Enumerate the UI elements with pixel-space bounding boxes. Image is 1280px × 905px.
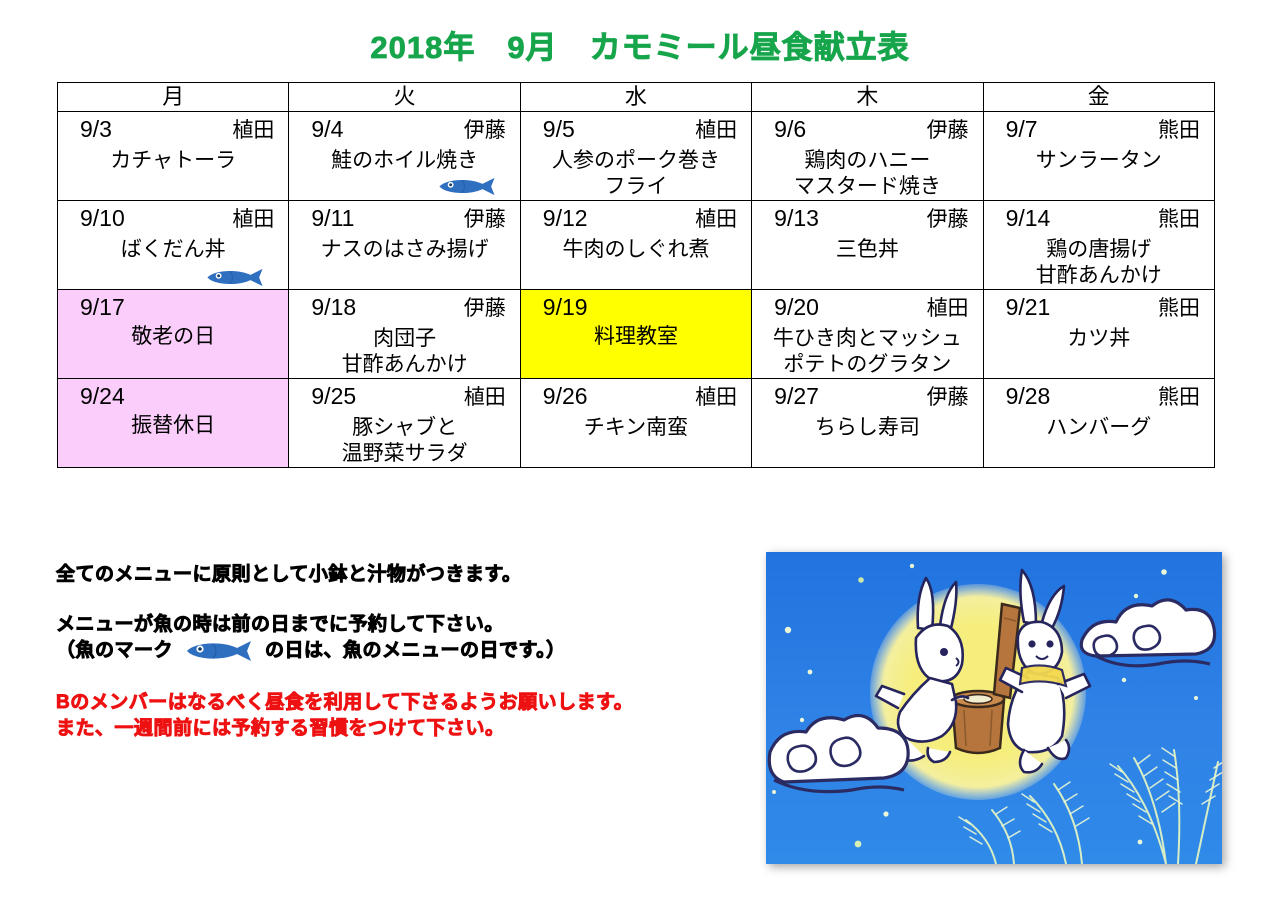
day-cell-header: 9/7熊田 bbox=[984, 112, 1214, 146]
weekday-header-wed: 水 bbox=[520, 83, 751, 112]
day-menu: 鮭のホイル焼き bbox=[289, 146, 519, 174]
day-menu: 牛肉のしぐれ煮 bbox=[521, 235, 751, 263]
calendar-day-cell: 9/3植田カチャトーラ bbox=[58, 112, 289, 201]
day-date: 9/7 bbox=[1006, 114, 1038, 144]
notes-section: 全てのメニューに原則として小鉢と汁物がつきます。 メニューが魚の時は前の日までに… bbox=[56, 562, 756, 742]
day-cell-header: 9/11伊藤 bbox=[289, 201, 519, 235]
day-menu: 人参のポーク巻き フライ bbox=[521, 146, 751, 200]
tsukimi-illustration bbox=[766, 552, 1222, 864]
fish-icon bbox=[183, 640, 255, 662]
day-date: 9/11 bbox=[311, 203, 354, 233]
calendar-week-row: 9/17敬老の日9/18伊藤肉団子 甘酢あんかけ9/19料理教室9/20植田牛ひ… bbox=[58, 290, 1215, 379]
calendar-day-cell: 9/27伊藤ちらし寿司 bbox=[752, 379, 983, 468]
day-menu: 肉団子 甘酢あんかけ bbox=[289, 324, 519, 378]
day-cell-header: 9/26植田 bbox=[521, 379, 751, 413]
day-cell-header: 9/17 bbox=[58, 290, 288, 322]
day-cell-header: 9/21熊田 bbox=[984, 290, 1214, 324]
calendar-day-cell: 9/24振替休日 bbox=[58, 379, 289, 468]
day-date: 9/25 bbox=[311, 381, 356, 411]
day-menu: カツ丼 bbox=[984, 324, 1214, 352]
day-date: 9/6 bbox=[774, 114, 806, 144]
day-cell-header: 9/12植田 bbox=[521, 201, 751, 235]
day-menu: ナスのはさみ揚げ bbox=[289, 235, 519, 263]
day-date: 9/27 bbox=[774, 381, 819, 411]
day-menu: 敬老の日 bbox=[58, 322, 288, 350]
calendar-day-cell: 9/10植田ばくだん丼 bbox=[58, 201, 289, 290]
day-date: 9/24 bbox=[80, 381, 125, 411]
calendar-body: 9/3植田カチャトーラ9/4伊藤鮭のホイル焼き9/5植田人参のポーク巻き フライ… bbox=[58, 112, 1215, 468]
fish-icon bbox=[204, 268, 266, 287]
day-menu: ちらし寿司 bbox=[752, 413, 982, 441]
calendar-day-cell: 9/4伊藤鮭のホイル焼き bbox=[289, 112, 520, 201]
calendar-day-cell: 9/6伊藤鶏肉のハニー マスタード焼き bbox=[752, 112, 983, 201]
day-menu: 振替休日 bbox=[58, 411, 288, 439]
day-cell-header: 9/25植田 bbox=[289, 379, 519, 413]
day-date: 9/3 bbox=[80, 114, 112, 144]
day-date: 9/21 bbox=[1006, 292, 1051, 322]
weekday-header-tue: 火 bbox=[289, 83, 520, 112]
calendar-day-cell: 9/25植田豚シャブと 温野菜サラダ bbox=[289, 379, 520, 468]
calendar-day-cell: 9/19料理教室 bbox=[520, 290, 751, 379]
day-date: 9/17 bbox=[80, 292, 125, 322]
day-staff: 伊藤 bbox=[464, 116, 506, 146]
day-menu: チキン南蛮 bbox=[521, 413, 751, 441]
day-menu: ハンバーグ bbox=[984, 413, 1214, 441]
day-date: 9/18 bbox=[311, 292, 356, 322]
day-menu: 三色丼 bbox=[752, 235, 982, 263]
note-line-side-dishes: 全てのメニューに原則として小鉢と汁物がつきます。 bbox=[56, 562, 756, 588]
day-menu: ばくだん丼 bbox=[58, 235, 288, 263]
day-menu: カチャトーラ bbox=[58, 146, 288, 174]
day-date: 9/10 bbox=[80, 203, 125, 233]
day-staff: 熊田 bbox=[1158, 116, 1200, 146]
day-cell-header: 9/18伊藤 bbox=[289, 290, 519, 324]
day-cell-header: 9/4伊藤 bbox=[289, 112, 519, 146]
calendar-day-cell: 9/20植田牛ひき肉とマッシュ ポテトのグラタン bbox=[752, 290, 983, 379]
day-staff: 伊藤 bbox=[927, 383, 969, 413]
day-menu: 鶏の唐揚げ 甘酢あんかけ bbox=[984, 235, 1214, 289]
weekday-header-thu: 木 bbox=[752, 83, 983, 112]
day-staff: 熊田 bbox=[1158, 205, 1200, 235]
day-menu: サンラータン bbox=[984, 146, 1214, 174]
day-staff: 植田 bbox=[695, 205, 737, 235]
calendar-day-cell: 9/28熊田ハンバーグ bbox=[983, 379, 1214, 468]
day-staff: 植田 bbox=[232, 116, 274, 146]
day-menu: 豚シャブと 温野菜サラダ bbox=[289, 413, 519, 467]
day-cell-header: 9/10植田 bbox=[58, 201, 288, 235]
day-staff: 伊藤 bbox=[927, 116, 969, 146]
calendar-week-row: 9/10植田ばくだん丼9/11伊藤ナスのはさみ揚げ9/12植田牛肉のしぐれ煮9/… bbox=[58, 201, 1215, 290]
day-date: 9/5 bbox=[543, 114, 575, 144]
day-cell-header: 9/13伊藤 bbox=[752, 201, 982, 235]
calendar-week-row: 9/3植田カチャトーラ9/4伊藤鮭のホイル焼き9/5植田人参のポーク巻き フライ… bbox=[58, 112, 1215, 201]
calendar-day-cell: 9/17敬老の日 bbox=[58, 290, 289, 379]
calendar-day-cell: 9/12植田牛肉のしぐれ煮 bbox=[520, 201, 751, 290]
note-line-fish-reservation: メニューが魚の時は前の日までに予約して下さい。 bbox=[56, 612, 756, 638]
day-staff: 伊藤 bbox=[464, 294, 506, 324]
day-date: 9/26 bbox=[543, 381, 588, 411]
note-fish-legend-prefix: （魚のマーク bbox=[56, 638, 173, 664]
note-line-b-member-request: Bのメンバーはなるべく昼食を利用して下さるようお願いします。 bbox=[56, 690, 756, 716]
note-line-fish-mark-legend: （魚のマーク の日は、魚のメニューの日です。） bbox=[56, 638, 756, 664]
calendar-week-row: 9/24振替休日9/25植田豚シャブと 温野菜サラダ9/26植田チキン南蛮9/2… bbox=[58, 379, 1215, 468]
day-staff: 植田 bbox=[464, 383, 506, 413]
day-cell-header: 9/20植田 bbox=[752, 290, 982, 324]
weekday-header-mon: 月 bbox=[58, 83, 289, 112]
day-cell-header: 9/27伊藤 bbox=[752, 379, 982, 413]
day-menu: 料理教室 bbox=[521, 322, 751, 350]
calendar-day-cell: 9/11伊藤ナスのはさみ揚げ bbox=[289, 201, 520, 290]
day-cell-header: 9/5植田 bbox=[521, 112, 751, 146]
day-cell-header: 9/3植田 bbox=[58, 112, 288, 146]
day-date: 9/14 bbox=[1006, 203, 1051, 233]
day-cell-header: 9/14熊田 bbox=[984, 201, 1214, 235]
calendar-day-cell: 9/26植田チキン南蛮 bbox=[520, 379, 751, 468]
menu-calendar-table: 月 火 水 木 金 9/3植田カチャトーラ9/4伊藤鮭のホイル焼き9/5植田人参… bbox=[57, 82, 1215, 468]
day-date: 9/19 bbox=[543, 292, 588, 322]
day-date: 9/13 bbox=[774, 203, 819, 233]
day-date: 9/20 bbox=[774, 292, 819, 322]
day-date: 9/12 bbox=[543, 203, 588, 233]
note-line-week-advance-reservation: また、一週間前には予約する習慣をつけて下さい。 bbox=[56, 716, 756, 742]
day-cell-header: 9/6伊藤 bbox=[752, 112, 982, 146]
day-staff: 伊藤 bbox=[464, 205, 506, 235]
calendar-day-cell: 9/7熊田サンラータン bbox=[983, 112, 1214, 201]
calendar-day-cell: 9/13伊藤三色丼 bbox=[752, 201, 983, 290]
day-date: 9/28 bbox=[1006, 381, 1051, 411]
day-staff: 植田 bbox=[695, 116, 737, 146]
page-title: 2018年 9月 カモミール昼食献立表 bbox=[0, 22, 1280, 67]
day-cell-header: 9/24 bbox=[58, 379, 288, 411]
note-fish-legend-suffix: の日は、魚のメニューの日です。） bbox=[265, 638, 566, 664]
notes-red-block: Bのメンバーはなるべく昼食を利用して下さるようお願いします。 また、一週間前には… bbox=[56, 690, 756, 742]
day-menu: 鶏肉のハニー マスタード焼き bbox=[752, 146, 982, 200]
day-staff: 植田 bbox=[695, 383, 737, 413]
day-date: 9/4 bbox=[311, 114, 343, 144]
calendar-day-cell: 9/14熊田鶏の唐揚げ 甘酢あんかけ bbox=[983, 201, 1214, 290]
calendar-day-cell: 9/18伊藤肉団子 甘酢あんかけ bbox=[289, 290, 520, 379]
day-staff: 植田 bbox=[232, 205, 274, 235]
day-staff: 植田 bbox=[927, 294, 969, 324]
day-staff: 伊藤 bbox=[927, 205, 969, 235]
day-staff: 熊田 bbox=[1158, 294, 1200, 324]
calendar-day-cell: 9/21熊田カツ丼 bbox=[983, 290, 1214, 379]
day-cell-header: 9/28熊田 bbox=[984, 379, 1214, 413]
day-staff: 熊田 bbox=[1158, 383, 1200, 413]
weekday-header-row: 月 火 水 木 金 bbox=[58, 83, 1215, 112]
calendar-day-cell: 9/5植田人参のポーク巻き フライ bbox=[520, 112, 751, 201]
day-cell-header: 9/19 bbox=[521, 290, 751, 322]
fish-icon bbox=[436, 177, 498, 196]
weekday-header-fri: 金 bbox=[983, 83, 1214, 112]
day-menu: 牛ひき肉とマッシュ ポテトのグラタン bbox=[752, 324, 982, 378]
